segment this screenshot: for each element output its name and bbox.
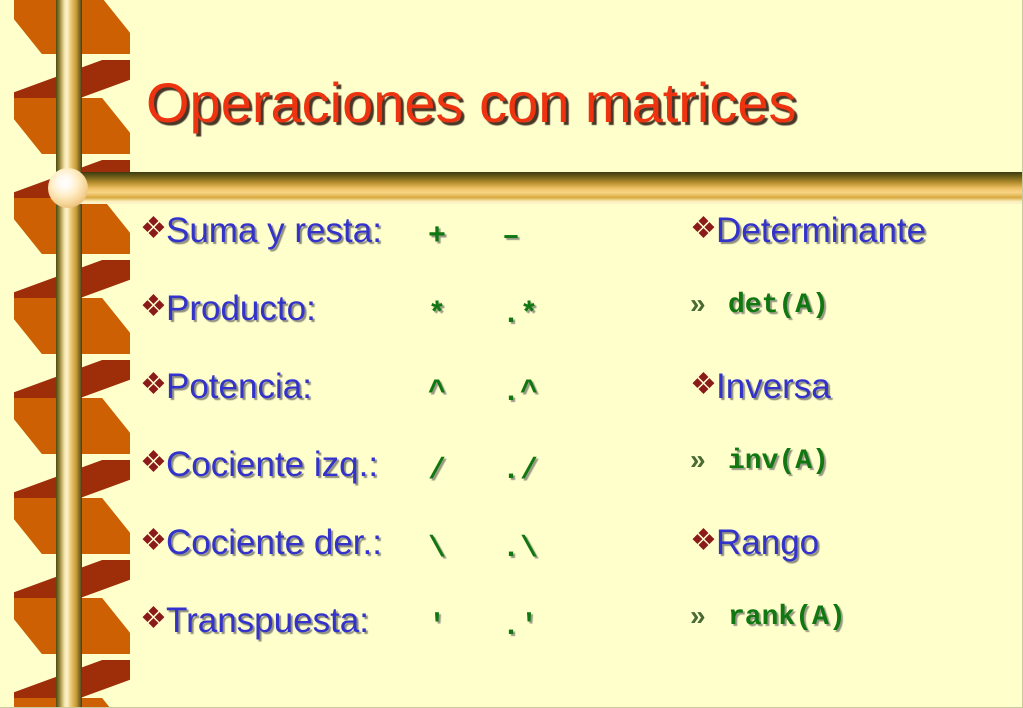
operator-elementwise: ./: [502, 454, 538, 488]
function-code-row: »inv(A): [690, 446, 1020, 524]
operator-elementwise: .^: [502, 376, 538, 410]
operator-matrix: ^: [428, 376, 446, 410]
operator-matrix: /: [428, 454, 446, 488]
operation-label: Potencia:: [166, 368, 312, 407]
function-name-label: Rango: [716, 524, 819, 563]
diamond-bullet-icon: ❖: [140, 604, 166, 634]
diamond-bullet-icon: ❖: [140, 370, 166, 400]
function-name-label: Determinante: [716, 212, 926, 251]
diamond-bullet-icon: ❖: [690, 214, 716, 244]
operator-matrix: *: [428, 298, 446, 332]
operation-row: ❖Suma y resta:+–: [140, 212, 640, 290]
guillemet-bullet-icon: »: [690, 290, 728, 318]
function-call-code: rank(A): [728, 603, 846, 634]
diamond-bullet-icon: ❖: [690, 526, 716, 556]
function-call-code: inv(A): [728, 447, 829, 478]
function-code-row: »det(A): [690, 290, 1020, 368]
function-heading-row: ❖Rango: [690, 524, 1020, 602]
operation-row: ❖Potencia:^.^: [140, 368, 640, 446]
diamond-bullet-icon: ❖: [140, 292, 166, 322]
operation-label: Suma y resta:: [166, 212, 382, 251]
operation-row: ❖Transpuesta:'.': [140, 602, 640, 680]
operation-label: Producto:: [166, 290, 316, 329]
operator-elementwise: –: [502, 220, 520, 254]
function-heading-row: ❖Determinante: [690, 212, 1020, 290]
operation-row: ❖Producto:*.*: [140, 290, 640, 368]
operation-label: Cociente izq.:: [166, 446, 378, 485]
operator-elementwise: .\: [502, 532, 538, 566]
slide-canvas: Operaciones con matrices ❖Suma y resta:+…: [0, 0, 1023, 708]
slide-body: ❖Suma y resta:+–❖Producto:*.*❖Potencia:^…: [0, 212, 1023, 708]
function-code-row: »rank(A): [690, 602, 1020, 680]
function-name-label: Inversa: [716, 368, 831, 407]
operation-label: Transpuesta:: [166, 602, 369, 641]
operator-elementwise: .': [502, 610, 538, 644]
diamond-bullet-icon: ❖: [140, 214, 166, 244]
horizontal-gold-bar: [56, 172, 1023, 204]
diamond-bullet-icon: ❖: [140, 526, 166, 556]
guillemet-bullet-icon: »: [690, 602, 728, 630]
operator-matrix: +: [428, 220, 446, 254]
diamond-bullet-icon: ❖: [140, 448, 166, 478]
operation-label: Cociente der.:: [166, 524, 382, 563]
function-heading-row: ❖Inversa: [690, 368, 1020, 446]
page-title: Operaciones con matrices: [146, 70, 797, 135]
operator-matrix: ': [428, 610, 446, 644]
diamond-bullet-icon: ❖: [690, 370, 716, 400]
glowing-knob-icon: [48, 168, 88, 208]
operator-matrix: \: [428, 532, 446, 566]
operator-elementwise: .*: [502, 298, 538, 332]
function-call-code: det(A): [728, 291, 829, 322]
guillemet-bullet-icon: »: [690, 446, 728, 474]
operation-row: ❖Cociente izq.:/./: [140, 446, 640, 524]
operation-row: ❖Cociente der.:\.\: [140, 524, 640, 602]
